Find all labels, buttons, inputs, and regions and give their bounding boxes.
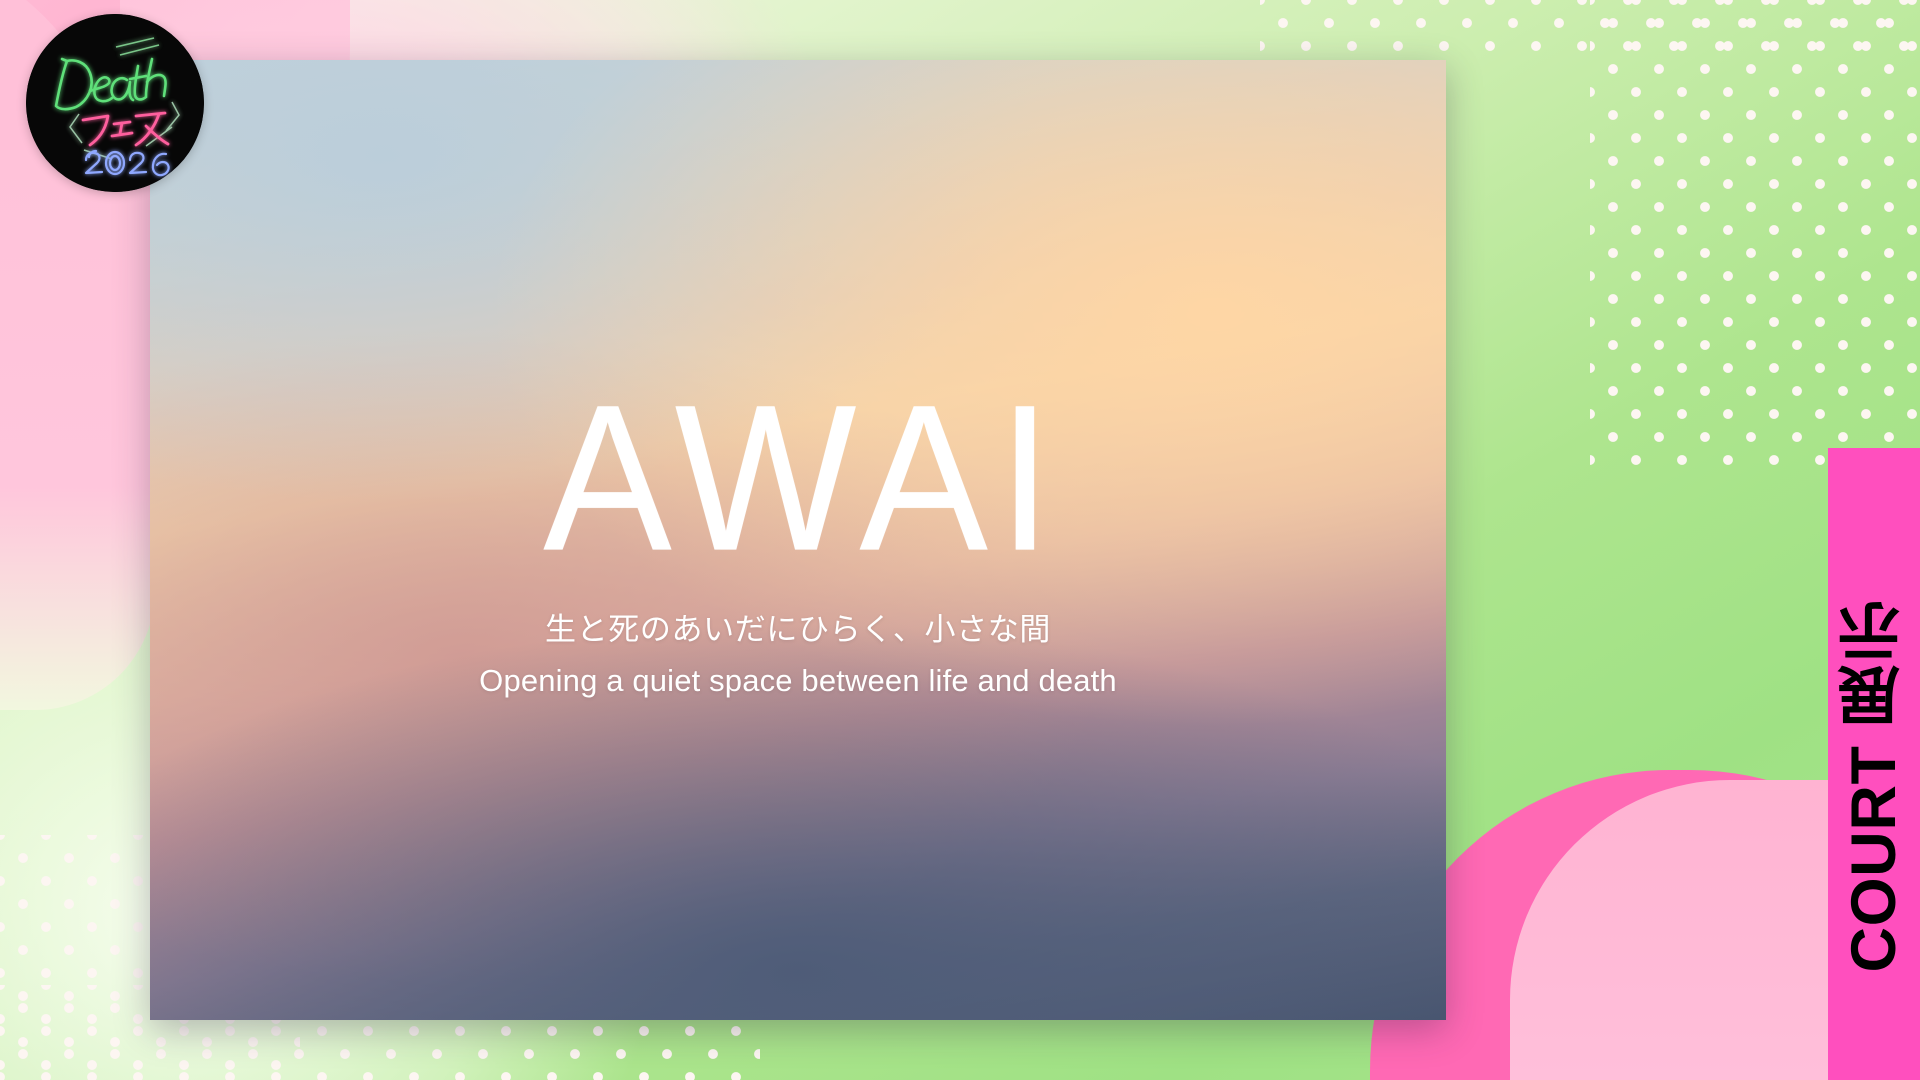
- main-slide: AWAI 生と死のあいだにひらく、小さな間 Opening a quiet sp…: [150, 60, 1446, 1020]
- pink-strip-left: [0, 150, 155, 710]
- polka-dot-panel-right: [1590, 0, 1920, 465]
- slide-subtitle-japanese: 生と死のあいだにひらく、小さな間: [545, 604, 1051, 649]
- death-fes-logo-artwork: [26, 14, 204, 192]
- slide-title: AWAI: [543, 374, 1062, 581]
- slide-content: AWAI 生と死のあいだにひらく、小さな間 Opening a quiet sp…: [150, 60, 1446, 1020]
- court-exhibition-label: COURT 展示: [1828, 448, 1920, 1080]
- death-fes-logo[interactable]: [26, 14, 204, 192]
- court-exhibition-label-text: COURT 展示: [1843, 600, 1906, 973]
- poster-canvas: AWAI 生と死のあいだにひらく、小さな間 Opening a quiet sp…: [0, 0, 1920, 1080]
- slide-subtitle-english: Opening a quiet space between life and d…: [479, 663, 1117, 699]
